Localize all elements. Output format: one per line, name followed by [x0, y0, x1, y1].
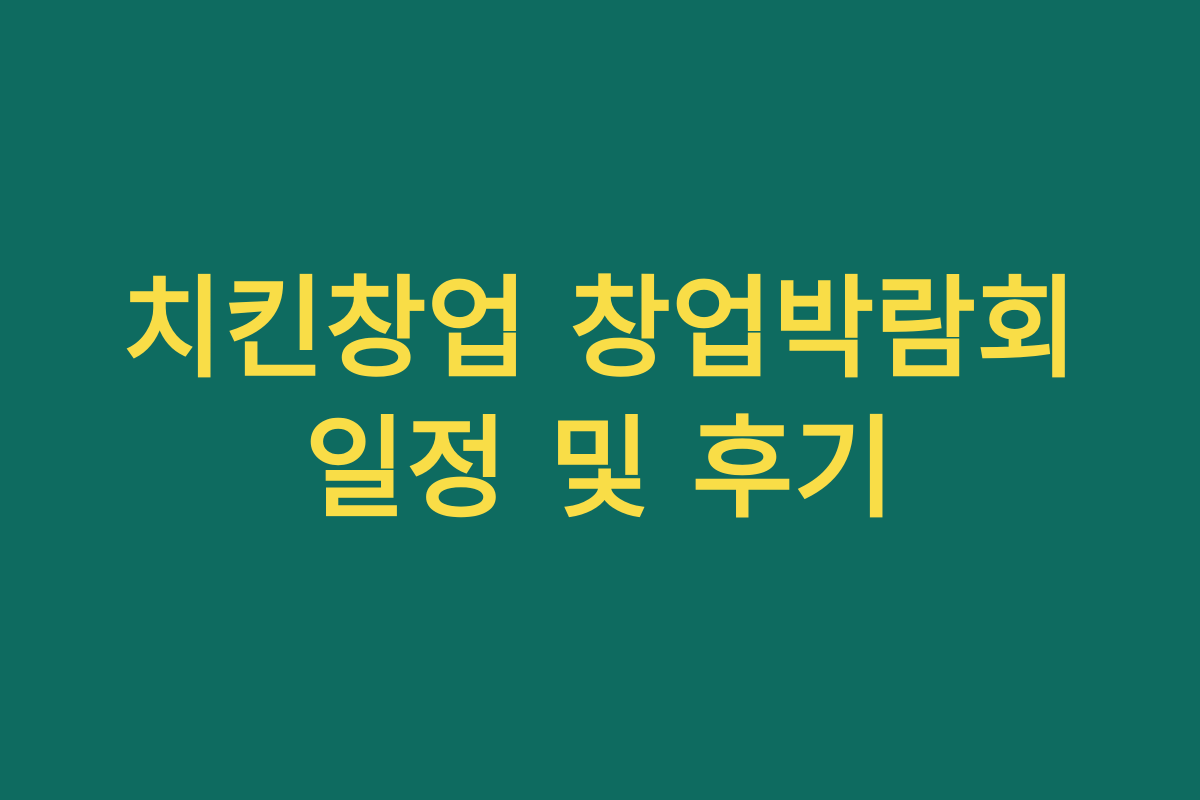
- page-title: 치킨창업 창업박람회 일정 및 후기: [95, 260, 1105, 540]
- thumbnail-canvas: 치킨창업 창업박람회 일정 및 후기: [0, 0, 1200, 800]
- headline-block: 치킨창업 창업박람회 일정 및 후기: [95, 260, 1105, 540]
